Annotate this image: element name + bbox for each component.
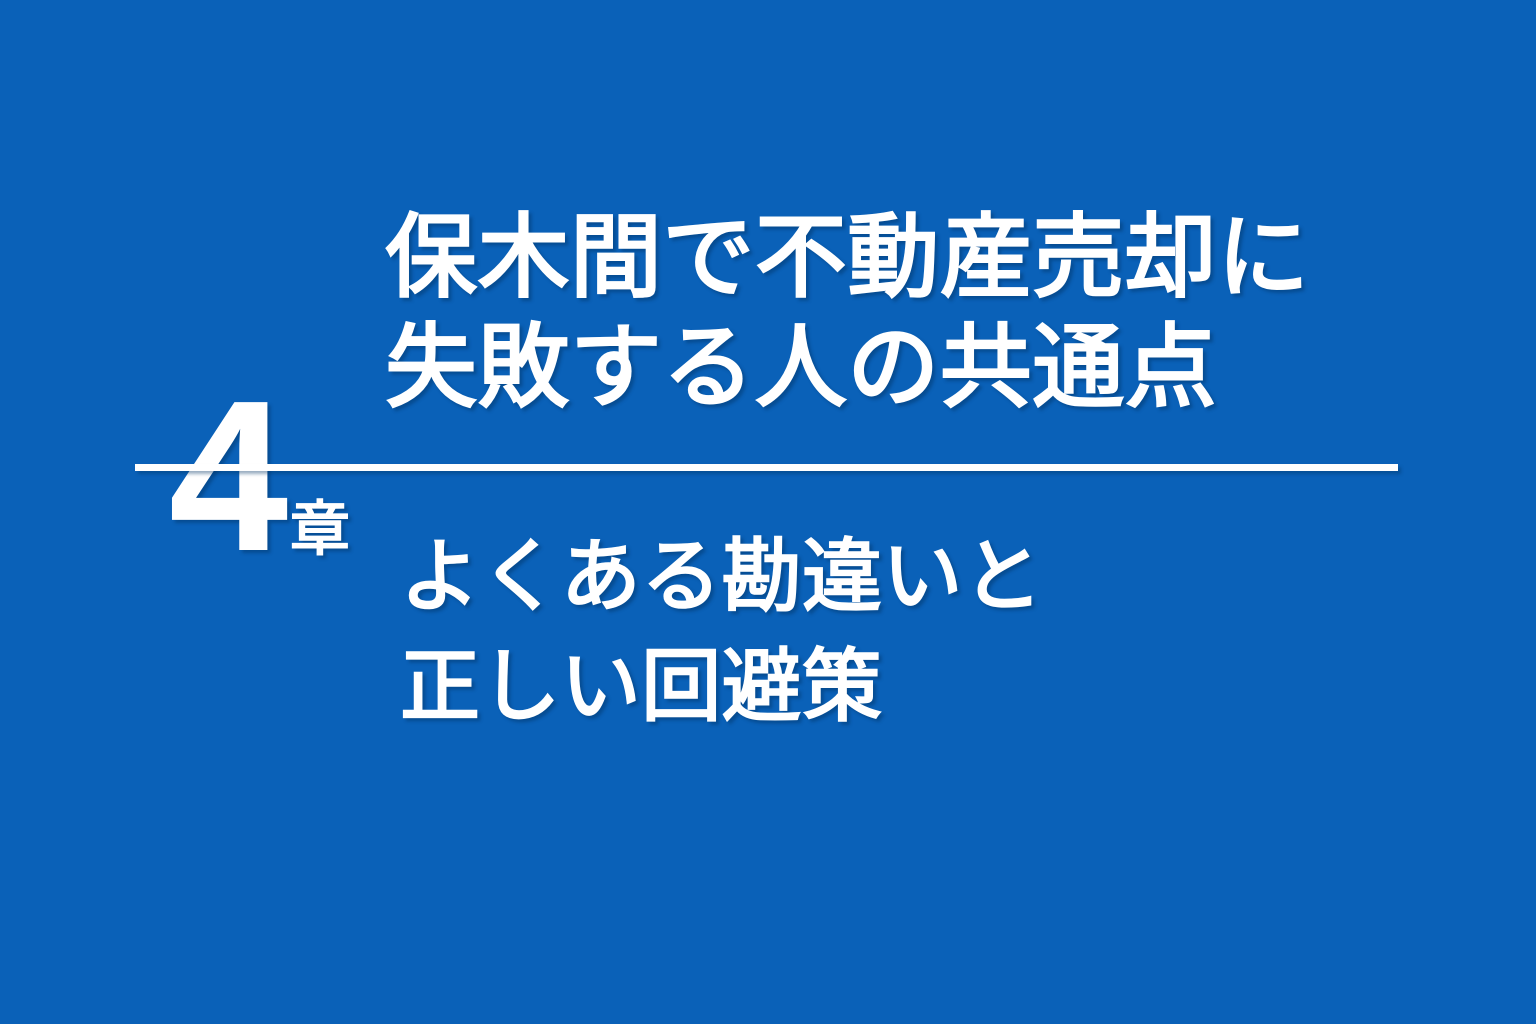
subtitle-line-2: 正しい回避策 (400, 632, 1043, 742)
chapter-badge: 4 章 (0, 200, 385, 400)
subtitle: よくある勘違いと 正しい回避策 (400, 522, 1043, 742)
chapter-number: 4 (169, 385, 284, 568)
horizontal-divider (135, 464, 1398, 471)
subtitle-line-1: よくある勘違いと (400, 522, 1043, 632)
chapter-unit-label: 章 (290, 500, 350, 560)
title-line-1: 保木間で不動産売却に (385, 203, 1310, 313)
heading-block: 4 章 保木間で不動産売却に 失敗する人の共通点 (0, 200, 1536, 430)
chapter-title-slide: 4 章 保木間で不動産売却に 失敗する人の共通点 よくある勘違いと 正しい回避策 (0, 0, 1536, 1024)
page-title: 保木間で不動産売却に 失敗する人の共通点 (385, 200, 1310, 423)
title-line-2: 失敗する人の共通点 (385, 313, 1310, 423)
